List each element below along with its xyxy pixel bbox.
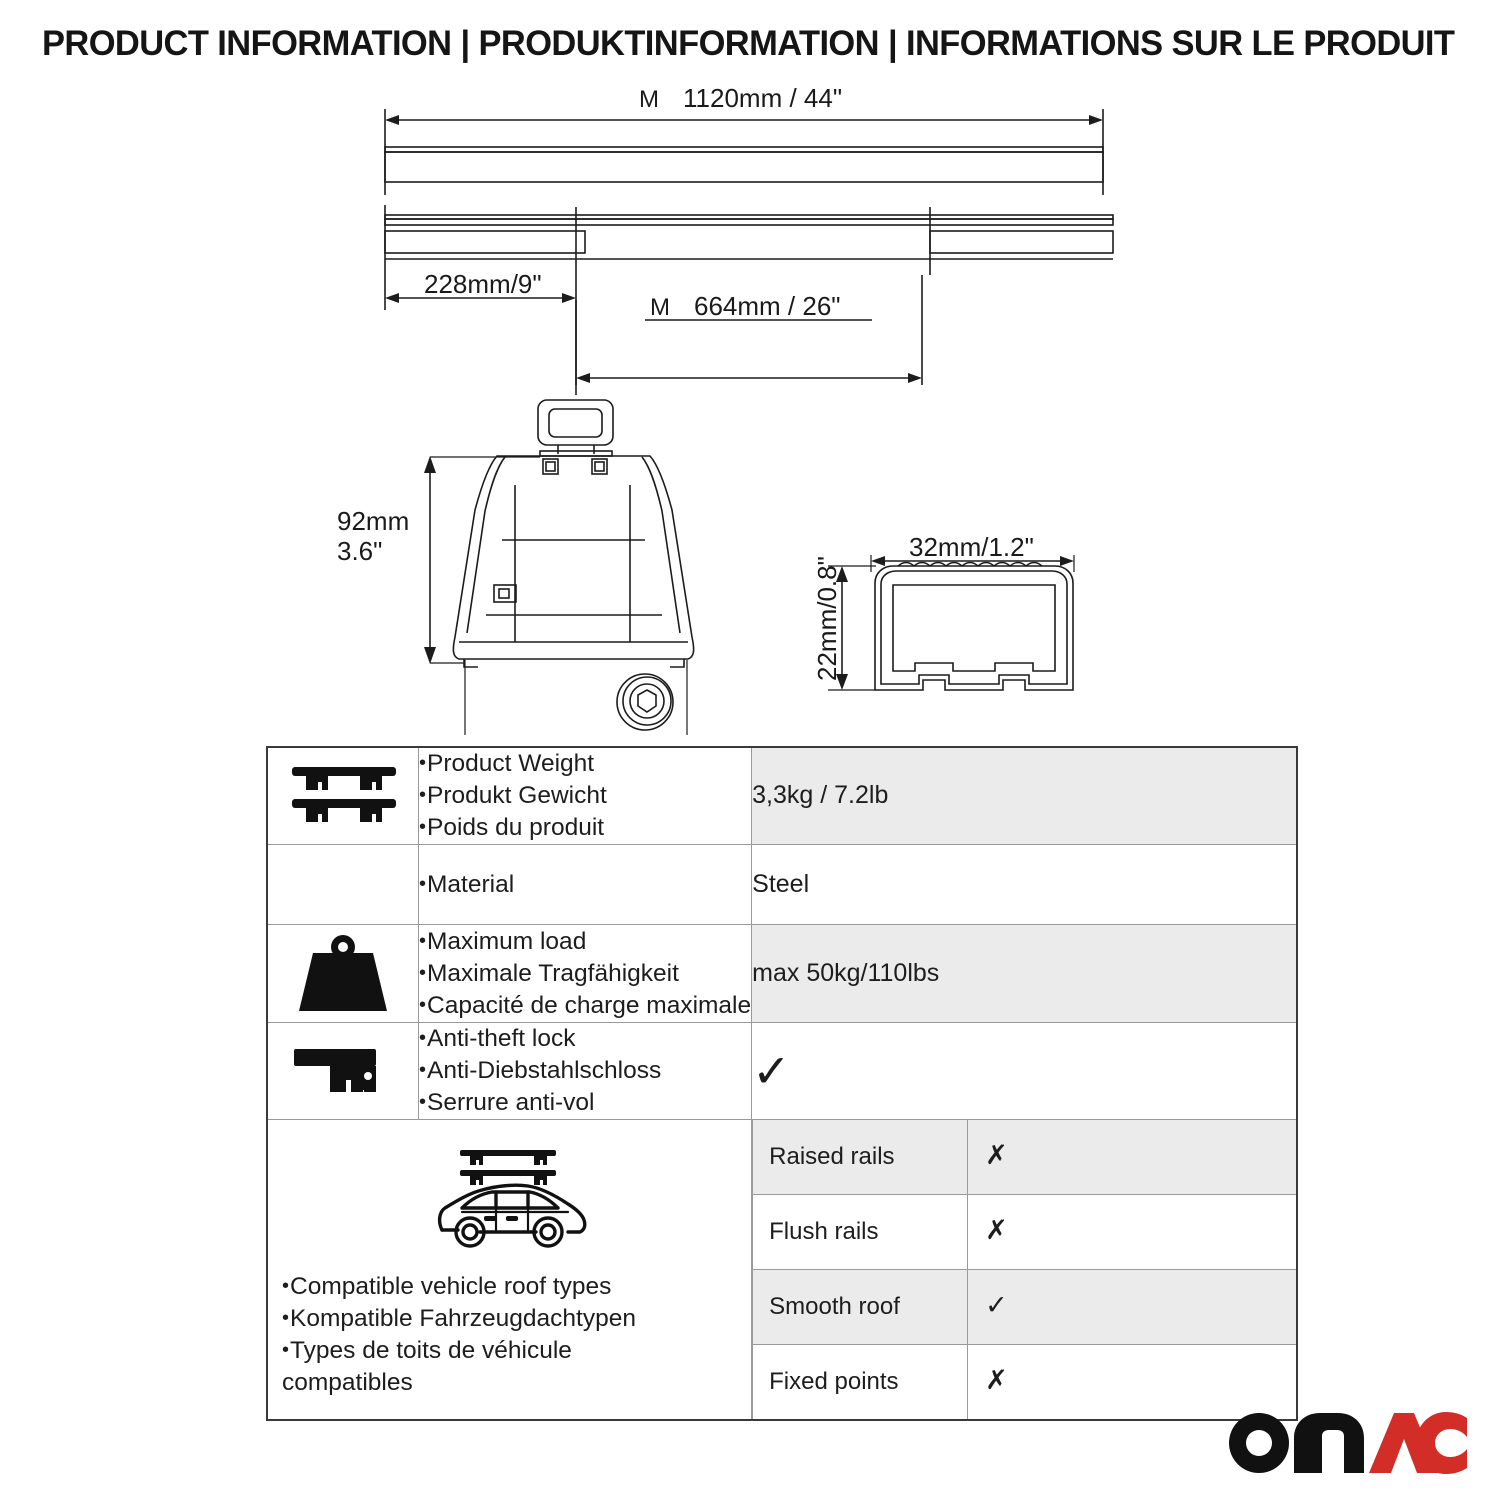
profile-height-label: 22mm/0.8" <box>812 556 842 681</box>
compatible-roof-types-cell: Compatible vehicle roof types Kompatible… <box>267 1119 752 1420</box>
spec-label: Produkt Gewicht <box>419 780 751 812</box>
crossbar-side-view <box>385 215 1113 259</box>
crossbar-top-view <box>385 147 1103 182</box>
compat-label: Kompatible Fahrzeugdachtypen <box>282 1303 743 1335</box>
table-row: Anti-theft lock Anti-Diebstahlschloss Se… <box>267 1023 1297 1120</box>
compat-label: Types de toits de véhicule compatibles <box>282 1335 652 1399</box>
tower-height-in-label: 3.6" <box>337 536 382 566</box>
omac-logo-svg <box>1228 1412 1468 1474</box>
roof-type-label: Raised rails <box>753 1120 968 1195</box>
spec-label: Serrure anti-vol <box>419 1087 751 1119</box>
logo-letter-m <box>1294 1413 1364 1473</box>
logo-letter-o <box>1229 1413 1289 1473</box>
roof-types-table: Raised rails ✗ Flush rails ✗ <box>752 1120 1296 1419</box>
cross-icon: ✗ <box>985 1215 1008 1246</box>
table-row: Maximum load Maximale Tragfähigkeit Capa… <box>267 925 1297 1023</box>
roof-type-row: Fixed points ✗ <box>753 1344 1296 1419</box>
check-icon: ✓ <box>985 1290 1008 1321</box>
bar-length-label: 1120mm / 44" <box>683 85 842 113</box>
bar-length-prefix: M <box>639 86 659 113</box>
table-row: Product Weight Produkt Gewicht Poids du … <box>267 747 1297 844</box>
two-crossbars-icon <box>268 751 418 836</box>
spec-label: Capacité de charge maximale <box>419 990 751 1022</box>
spec-label: Product Weight <box>419 748 751 780</box>
spec-label: Anti-Diebstahlschloss <box>419 1055 751 1087</box>
page-title: PRODUCT INFORMATION | PRODUKTINFORMATION… <box>42 24 1441 64</box>
roof-rack-tower-front-view <box>453 334 693 731</box>
technical-drawing-area: M 1120mm / 44" 228mm/9" M 664mm / 26" 92… <box>0 85 1500 735</box>
spec-label: Anti-theft lock <box>419 1023 751 1055</box>
table-row: Compatible vehicle roof types Kompatible… <box>267 1119 1297 1420</box>
anti-theft-value: ✓ <box>752 1023 1297 1120</box>
span-label: 664mm / 26" <box>694 291 841 321</box>
max-load-value: max 50kg/110lbs <box>752 925 1297 1023</box>
material-icon-cell <box>267 844 419 925</box>
tower-width-label: 104mm / 4" <box>498 733 630 735</box>
roof-type-mark: ✗ <box>968 1344 1296 1419</box>
max-load-icon-cell <box>267 925 419 1023</box>
roof-type-row: Smooth roof ✓ <box>753 1269 1296 1344</box>
material-labels: Material <box>419 844 752 925</box>
car-with-roof-bars-icon <box>418 1142 608 1260</box>
roof-type-row: Raised rails ✗ <box>753 1120 1296 1195</box>
specification-table: Product Weight Produkt Gewicht Poids du … <box>266 746 1298 1421</box>
anti-theft-icon-cell <box>267 1023 419 1120</box>
lock-bar-icon <box>268 1027 418 1111</box>
compat-label: Compatible vehicle roof types <box>282 1271 743 1303</box>
anti-theft-labels: Anti-theft lock Anti-Diebstahlschloss Se… <box>419 1023 752 1120</box>
product-weight-labels: Product Weight Produkt Gewicht Poids du … <box>419 747 752 844</box>
roof-type-label: Smooth roof <box>753 1269 968 1344</box>
span-prefix: M <box>650 294 670 321</box>
weight-icon <box>268 925 418 1017</box>
profile-width-label: 32mm/1.2" <box>909 532 1034 562</box>
foot-offset-label: 228mm/9" <box>424 269 542 299</box>
cross-icon: ✗ <box>985 1365 1008 1396</box>
material-value: Steel <box>752 844 1297 925</box>
roof-type-row: Flush rails ✗ <box>753 1194 1296 1269</box>
omac-logo <box>1228 1412 1468 1474</box>
roof-type-label: Flush rails <box>753 1194 968 1269</box>
cross-icon: ✗ <box>985 1140 1008 1171</box>
product-weight-value: 3,3kg / 7.2lb <box>752 747 1297 844</box>
max-load-labels: Maximum load Maximale Tragfähigkeit Capa… <box>419 925 752 1023</box>
drawing-svg: M 1120mm / 44" 228mm/9" M 664mm / 26" 92… <box>0 85 1500 735</box>
roof-type-mark: ✓ <box>968 1269 1296 1344</box>
spec-label: Material <box>419 869 751 901</box>
roof-type-mark: ✗ <box>968 1194 1296 1269</box>
spec-label: Poids du produit <box>419 812 751 844</box>
table-row: Material Steel <box>267 844 1297 925</box>
product-weight-icon-cell <box>267 747 419 844</box>
roof-type-label: Fixed points <box>753 1344 968 1419</box>
roof-type-mark: ✗ <box>968 1120 1296 1195</box>
car-icon-wrap <box>282 1136 743 1265</box>
spec-label: Maximum load <box>419 926 751 958</box>
roof-types-subtable-holder: Raised rails ✗ Flush rails ✗ <box>752 1119 1297 1420</box>
tower-height-mm-label: 92mm <box>337 506 409 536</box>
check-icon: ✓ <box>752 1044 791 1098</box>
spec-label: Maximale Tragfähigkeit <box>419 958 751 990</box>
crossbar-cross-section <box>869 153 1073 691</box>
